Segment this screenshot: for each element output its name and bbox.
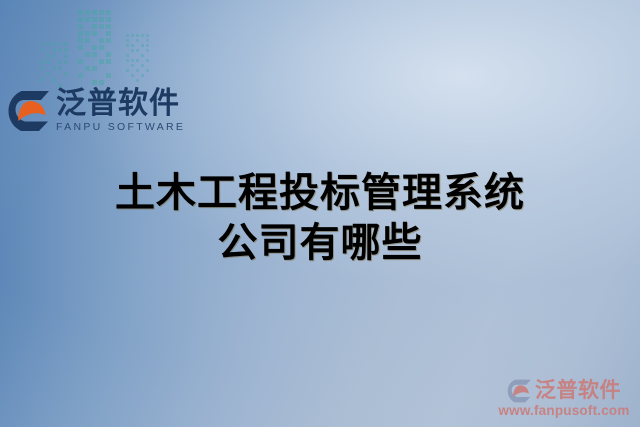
brand-name-en: FANPU SOFTWARE	[56, 121, 185, 133]
brand-name-cn: 泛普软件	[56, 88, 180, 120]
watermark-url: www.fanpusoft.com	[494, 402, 634, 419]
pixel-mosaic-skyline-decoration	[38, 0, 168, 92]
watermark-brand-row: 泛普软件	[494, 379, 634, 403]
watermark: 泛普软件 www.fanpusoft.com	[494, 379, 634, 419]
page-title-line-1: 土木工程投标管理系统	[0, 168, 640, 218]
watermark-brand-name: 泛普软件	[535, 379, 621, 403]
fanpu-hexagon-icon	[8, 90, 52, 132]
brand-logo-text: 泛普软件 FANPU SOFTWARE	[56, 88, 185, 133]
fanpu-hexagon-icon	[507, 379, 533, 403]
page-title: 土木工程投标管理系统 公司有哪些	[0, 168, 640, 268]
page-title-line-2: 公司有哪些	[0, 218, 640, 268]
brand-logo: 泛普软件 FANPU SOFTWARE	[8, 88, 185, 133]
mosaic-icon	[38, 0, 168, 92]
promo-banner: 泛普软件 FANPU SOFTWARE 土木工程投标管理系统 公司有哪些 泛普软…	[0, 0, 640, 427]
